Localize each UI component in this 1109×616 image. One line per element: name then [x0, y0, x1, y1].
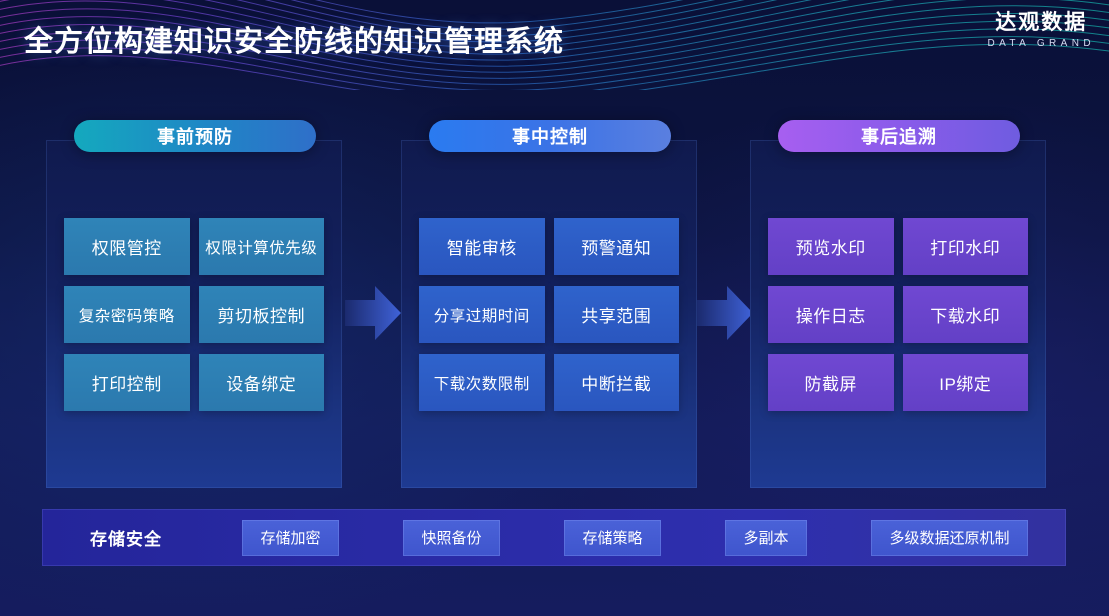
- stage-item[interactable]: 下载次数限制: [419, 354, 545, 411]
- stage-item[interactable]: 打印控制: [64, 354, 190, 411]
- stage-item[interactable]: IP绑定: [903, 354, 1029, 411]
- page-title: 全方位构建知识安全防线的知识管理系统: [24, 18, 564, 60]
- stage-item[interactable]: 分享过期时间: [419, 286, 545, 343]
- stage-item-grid-prevention: 权限管控 权限计算优先级 复杂密码策略 剪切板控制 打印控制 设备绑定: [64, 218, 324, 411]
- stage-panel-control: 事中控制 智能审核 预警通知 分享过期时间 共享范围 下载次数限制 中断拦截: [401, 140, 697, 488]
- stage-item[interactable]: 下载水印: [903, 286, 1029, 343]
- stage-item[interactable]: 操作日志: [768, 286, 894, 343]
- page-header: 全方位构建知识安全防线的知识管理系统 达观数据 DATA GRAND: [0, 0, 1109, 90]
- storage-security-label: 存储安全: [42, 525, 210, 550]
- storage-item[interactable]: 快照备份: [403, 520, 499, 556]
- stage-item-grid-traceback: 预览水印 打印水印 操作日志 下载水印 防截屏 IP绑定: [768, 218, 1028, 411]
- storage-item[interactable]: 多级数据还原机制: [871, 520, 1027, 556]
- storage-item[interactable]: 存储加密: [242, 520, 338, 556]
- stage-item-grid-control: 智能审核 预警通知 分享过期时间 共享范围 下载次数限制 中断拦截: [419, 218, 679, 411]
- stage-item[interactable]: 共享范围: [554, 286, 680, 343]
- stage-item[interactable]: 中断拦截: [554, 354, 680, 411]
- storage-security-items: 存储加密 快照备份 存储策略 多副本 多级数据还原机制: [210, 520, 1066, 556]
- stage-title-prevention[interactable]: 事前预防: [74, 120, 316, 152]
- stage-item[interactable]: 设备绑定: [199, 354, 325, 411]
- stage-item[interactable]: 复杂密码策略: [64, 286, 190, 343]
- stage-item[interactable]: 打印水印: [903, 218, 1029, 275]
- logo-chinese-text: 达观数据: [987, 11, 1095, 35]
- stage-panel-prevention: 事前预防 权限管控 权限计算优先级 复杂密码策略 剪切板控制 打印控制 设备绑定: [46, 140, 342, 488]
- stage-item[interactable]: 剪切板控制: [199, 286, 325, 343]
- stage-title-control[interactable]: 事中控制: [429, 120, 671, 152]
- stage-item[interactable]: 预览水印: [768, 218, 894, 275]
- stage-item[interactable]: 防截屏: [768, 354, 894, 411]
- flow-arrow-2: [697, 284, 753, 342]
- storage-item[interactable]: 多副本: [725, 520, 806, 556]
- brand-logo: 达观数据 DATA GRAND: [987, 11, 1095, 49]
- flow-arrow-1: [345, 284, 401, 342]
- stage-panel-traceback: 事后追溯 预览水印 打印水印 操作日志 下载水印 防截屏 IP绑定: [750, 140, 1046, 488]
- stage-title-traceback[interactable]: 事后追溯: [778, 120, 1020, 152]
- storage-security-bar: 存储安全 存储加密 快照备份 存储策略 多副本 多级数据还原机制: [42, 509, 1066, 566]
- stage-item[interactable]: 权限管控: [64, 218, 190, 275]
- stage-item[interactable]: 智能审核: [419, 218, 545, 275]
- stage-item[interactable]: 权限计算优先级: [199, 218, 325, 275]
- logo-english-text: DATA GRAND: [987, 38, 1095, 49]
- stage-item[interactable]: 预警通知: [554, 218, 680, 275]
- storage-item[interactable]: 存储策略: [564, 520, 660, 556]
